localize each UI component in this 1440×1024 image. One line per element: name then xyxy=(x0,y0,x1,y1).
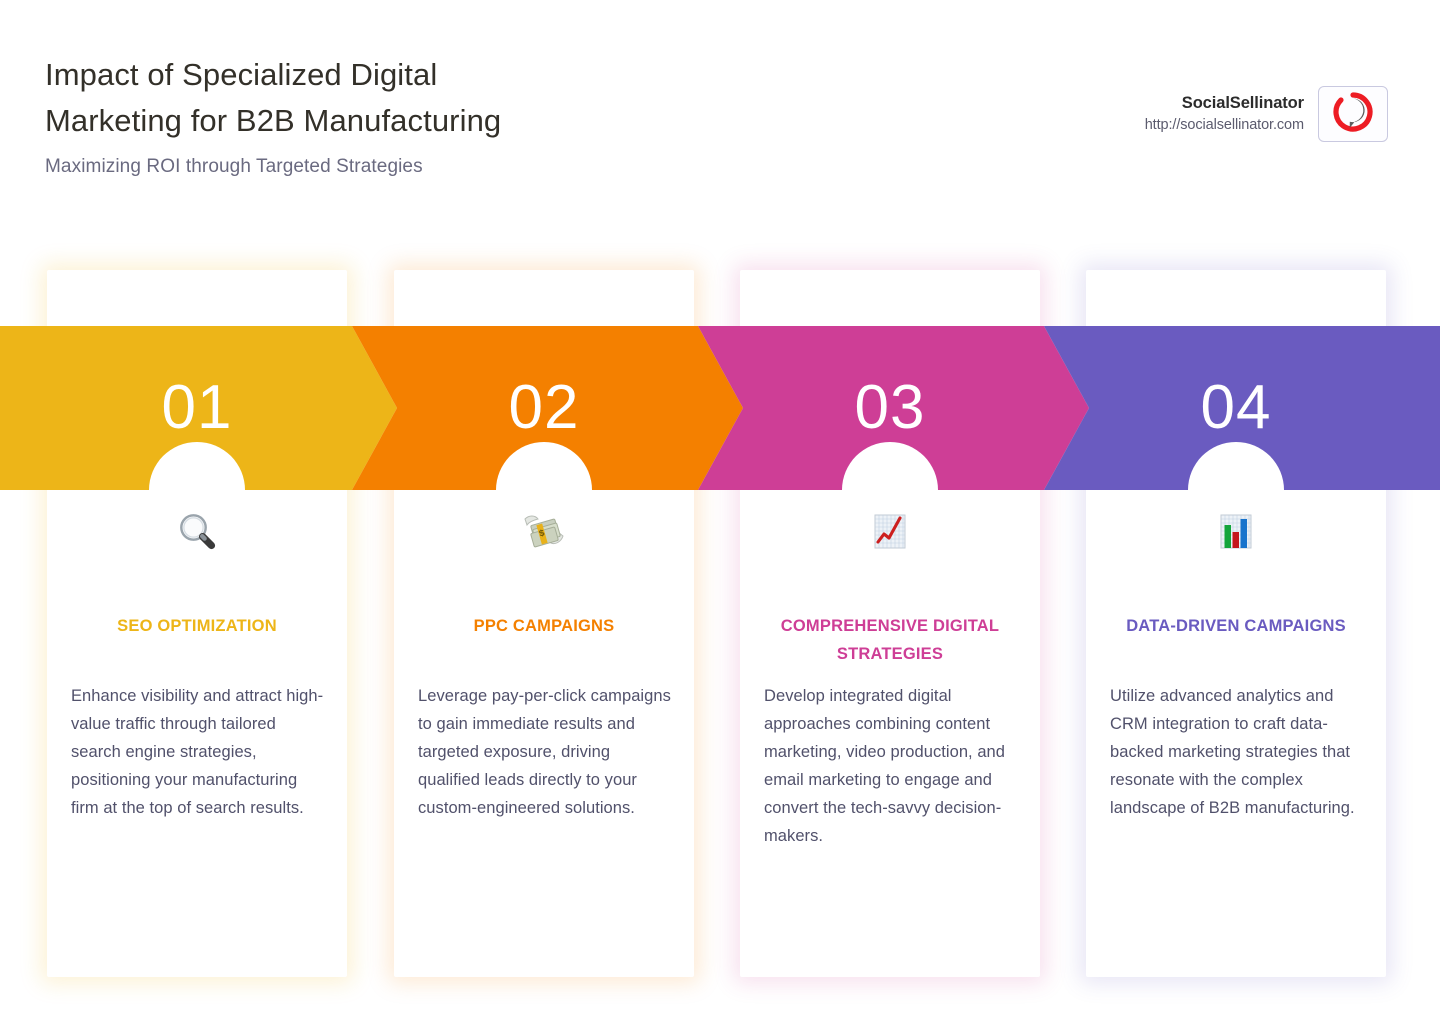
page-title: Impact of Specialized Digital Marketing … xyxy=(45,52,725,144)
speech-bubble-logo-icon xyxy=(1332,91,1374,138)
card-heading: PPC Campaigns xyxy=(412,612,676,640)
card-heading: SEO Optimization xyxy=(65,612,329,640)
page-title-line-2: Marketing for B2B Manufacturing xyxy=(45,98,725,144)
chart-increasing-icon xyxy=(740,505,1040,555)
card-body: Leverage pay-per-click campaigns to gain… xyxy=(418,682,674,822)
page-subtitle: Maximizing ROI through Targeted Strategi… xyxy=(45,152,423,182)
card-body: Develop integrated digital approaches co… xyxy=(764,682,1020,850)
brand-url[interactable]: http://socialsellinator.com xyxy=(1145,114,1304,136)
brand-logo xyxy=(1318,86,1388,142)
page-title-line-1: Impact of Specialized Digital xyxy=(45,52,725,98)
infographic-canvas: Impact of Specialized Digital Marketing … xyxy=(0,0,1440,1024)
card-heading: Data-Driven Campaigns xyxy=(1104,612,1368,640)
brand-name: SocialSellinator xyxy=(1145,92,1304,114)
chevron-segment-3 xyxy=(698,326,1089,490)
magnifying-glass-icon xyxy=(47,505,347,555)
chevron-segment-2 xyxy=(352,326,743,490)
card-body: Enhance visibility and attract high-valu… xyxy=(71,682,327,822)
card-heading: Comprehensive Digital Strategies xyxy=(758,612,1022,668)
card-body: Utilize advanced analytics and CRM integ… xyxy=(1110,682,1366,822)
step-chevron-banner xyxy=(0,326,1440,490)
chevron-segment-1 xyxy=(0,326,397,490)
bar-chart-icon xyxy=(1086,505,1386,555)
brand-block: SocialSellinator http://socialsellinator… xyxy=(1145,86,1388,142)
brand-text: SocialSellinator http://socialsellinator… xyxy=(1145,92,1304,136)
money-with-wings-icon: $ xyxy=(394,505,694,555)
chevron-segment-4 xyxy=(1044,326,1440,490)
